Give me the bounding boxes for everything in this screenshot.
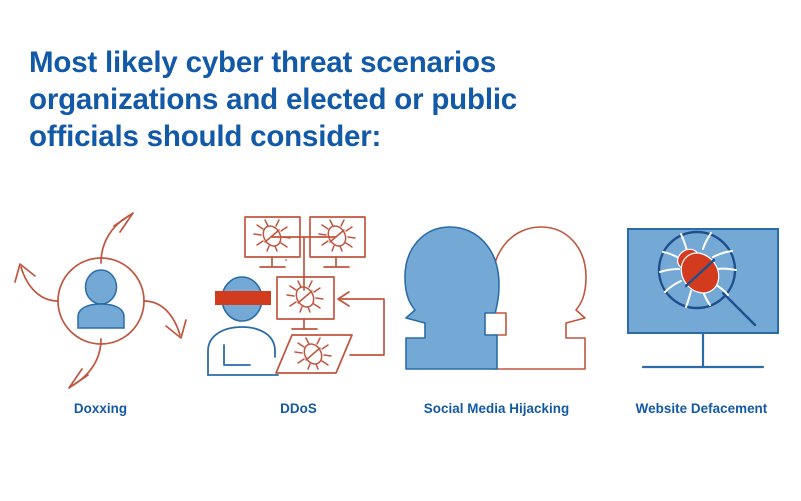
threat-label-ddos: DDoS <box>200 401 397 416</box>
title-line-2: organizations and elected or public <box>29 81 669 118</box>
monitor-magnifier-bug-icon <box>603 205 800 385</box>
threat-label-social-media-hijacking: Social Media Hijacking <box>398 401 595 416</box>
infographic-page: Most likely cyber threat scenarios organ… <box>0 0 801 501</box>
doxxing-person-arrows-icon <box>2 205 199 385</box>
page-title: Most likely cyber threat scenarios organ… <box>29 44 669 155</box>
threat-label-website-defacement: Website Defacement <box>603 401 800 416</box>
threat-item-ddos: DDoS <box>200 205 397 435</box>
ddos-hacker-monitors-icon <box>200 205 397 385</box>
two-heads-profile-icon <box>398 205 595 385</box>
threat-item-social-media-hijacking: Social Media Hijacking <box>398 205 595 435</box>
threat-item-doxxing: Doxxing <box>2 205 199 435</box>
title-line-1: Most likely cyber threat scenarios <box>29 44 669 81</box>
title-line-3: officials should consider: <box>29 118 669 155</box>
threat-item-website-defacement: Website Defacement <box>603 205 800 435</box>
threat-scenario-list: Doxxing <box>0 205 801 435</box>
threat-label-doxxing: Doxxing <box>2 401 199 416</box>
